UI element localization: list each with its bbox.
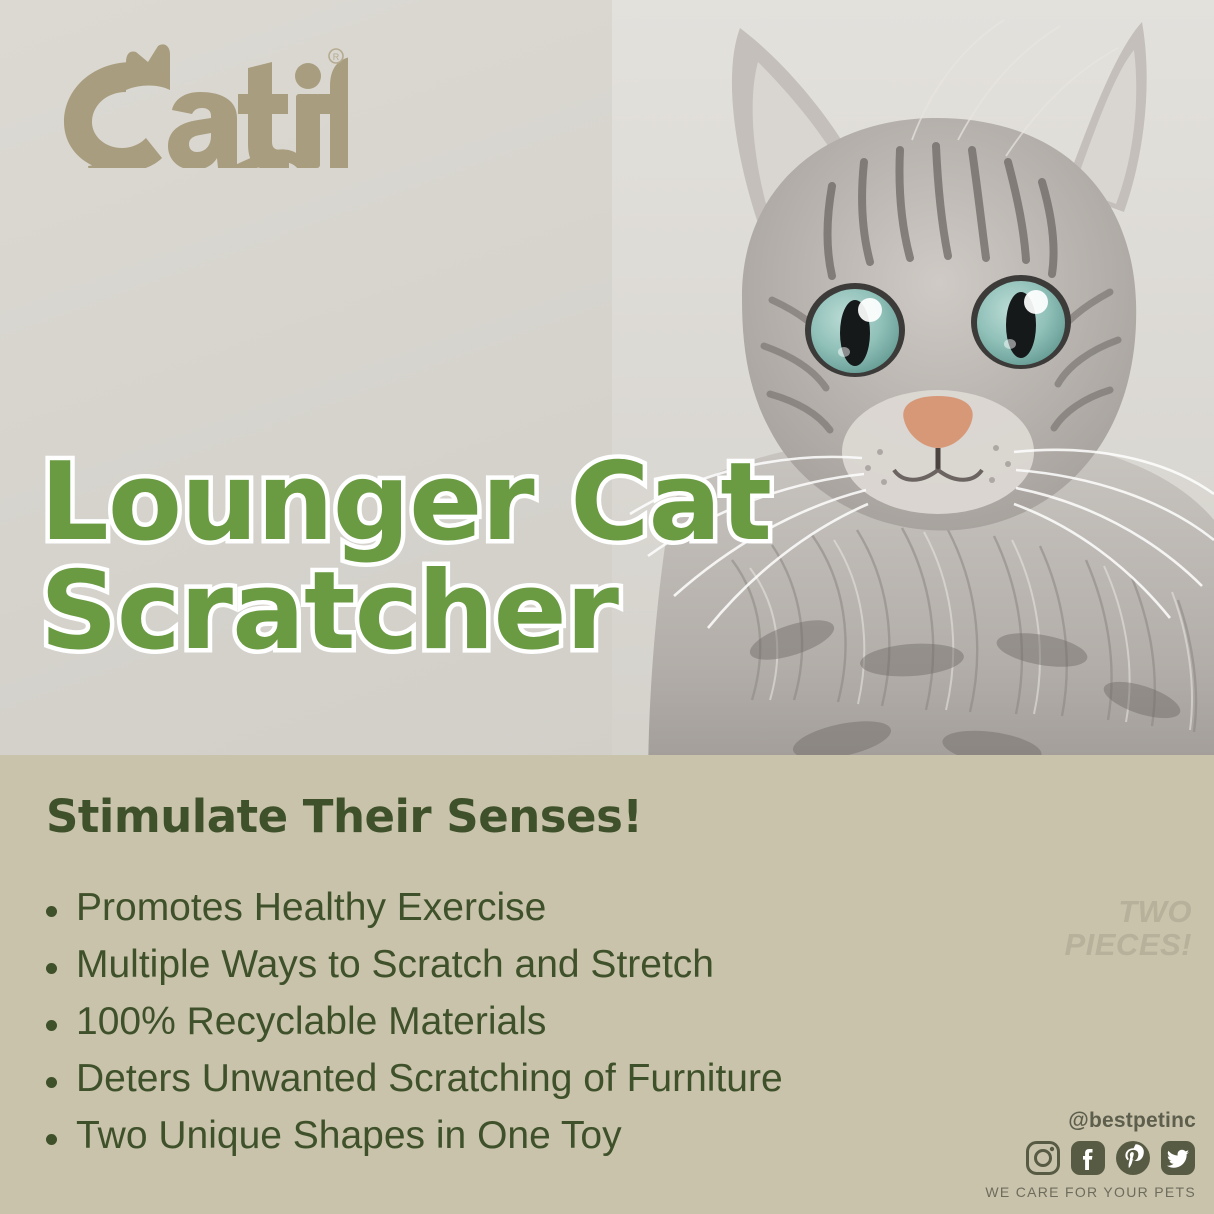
- instagram-icon[interactable]: [1025, 1140, 1061, 1176]
- facebook-icon[interactable]: [1070, 1140, 1106, 1176]
- badge-line-1: TWO: [1012, 896, 1192, 929]
- social-tagline: WE CARE FOR YOUR PETS: [976, 1184, 1196, 1200]
- list-item: Deters Unwanted Scratching of Furniture: [36, 1059, 1046, 1098]
- social-block: @bestpetinc: [976, 1109, 1196, 1200]
- svg-text:R: R: [333, 52, 340, 62]
- pinterest-icon[interactable]: [1115, 1140, 1151, 1176]
- page-title: Lounger Cat Scratcher: [40, 452, 980, 663]
- list-item: Promotes Healthy Exercise: [36, 888, 1046, 927]
- social-icon-row: [976, 1140, 1196, 1176]
- list-item: Two Unique Shapes in One Toy: [36, 1116, 1046, 1155]
- list-item: Multiple Ways to Scratch and Stretch: [36, 945, 1046, 984]
- badge-line-2: PIECES!: [1012, 929, 1192, 962]
- panel-subhead: Stimulate Their Senses!: [46, 790, 642, 843]
- feature-list: Promotes Healthy Exercise Multiple Ways …: [36, 888, 1046, 1173]
- product-poster: R Lounger Cat Scratcher Stimulate Their …: [0, 0, 1214, 1214]
- twitter-icon[interactable]: [1160, 1140, 1196, 1176]
- two-pieces-badge: TWO PIECES!: [1012, 896, 1192, 961]
- social-handle: @bestpetinc: [976, 1109, 1196, 1133]
- title-line-2: Scratcher: [40, 561, 980, 664]
- brand-logo: R: [48, 38, 348, 168]
- title-line-1: Lounger Cat: [40, 452, 980, 555]
- list-item: 100% Recyclable Materials: [36, 1002, 1046, 1041]
